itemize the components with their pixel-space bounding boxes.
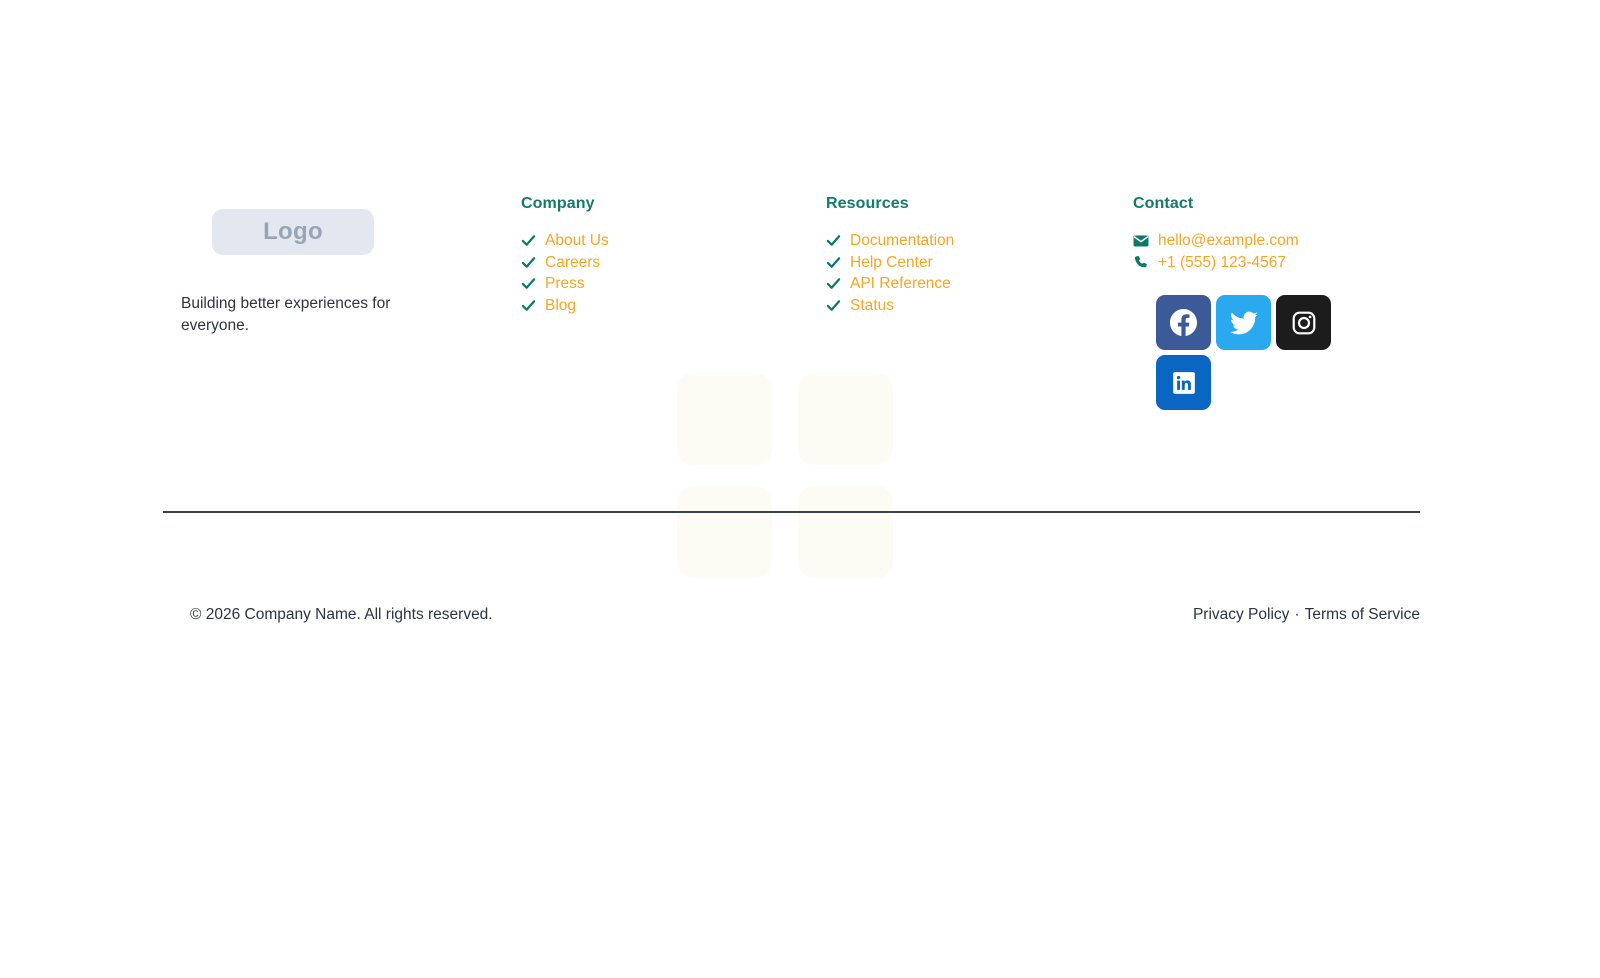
logo-text: Logo xyxy=(263,218,323,246)
contact-phone-label: +1 (555) 123-4567 xyxy=(1158,252,1286,274)
list-item[interactable]: Careers xyxy=(521,252,826,274)
footer-columns: Logo Building better experiences for eve… xyxy=(163,195,1420,410)
link-label: Press xyxy=(545,273,585,295)
brand-tagline: Building better experiences for everyone… xyxy=(181,293,391,337)
check-icon xyxy=(826,233,841,248)
link-label: Careers xyxy=(545,252,600,274)
footer-column-company: Company About Us Careers xyxy=(521,195,826,316)
check-icon xyxy=(826,298,841,313)
footer-divider xyxy=(163,511,1420,513)
social-link-instagram[interactable] xyxy=(1276,295,1331,350)
social-link-linkedin[interactable] xyxy=(1156,355,1211,410)
terms-of-service-link[interactable]: Terms of Service xyxy=(1305,606,1420,624)
contact-email-row[interactable]: hello@example.com xyxy=(1133,230,1420,252)
list-item[interactable]: Press xyxy=(521,273,826,295)
social-links xyxy=(1156,295,1331,410)
legal-links: Privacy Policy · Terms of Service xyxy=(1193,606,1420,624)
check-icon xyxy=(826,276,841,291)
footer-brand-column: Logo Building better experiences for eve… xyxy=(163,195,521,337)
company-link-list: About Us Careers Press xyxy=(521,230,826,316)
check-icon xyxy=(521,276,536,291)
list-item[interactable]: Documentation xyxy=(826,230,1133,252)
phone-icon xyxy=(1133,255,1149,270)
check-icon xyxy=(826,255,841,270)
social-link-facebook[interactable] xyxy=(1156,295,1211,350)
link-label: About Us xyxy=(545,230,609,252)
footer-bottom-bar: © 2026 Company Name. All rights reserved… xyxy=(163,606,1420,624)
footer-column-contact: Contact hello@example.com +1 (555) 123-4… xyxy=(1133,195,1420,410)
link-label: Status xyxy=(850,295,894,317)
list-item[interactable]: About Us xyxy=(521,230,826,252)
logo-placeholder[interactable]: Logo xyxy=(212,209,374,255)
link-label: API Reference xyxy=(850,273,951,295)
link-label: Help Center xyxy=(850,252,933,274)
contact-email-label: hello@example.com xyxy=(1158,230,1299,252)
list-item[interactable]: Status xyxy=(826,295,1133,317)
instagram-icon xyxy=(1291,310,1317,336)
column-heading-company: Company xyxy=(521,195,826,213)
check-icon xyxy=(521,255,536,270)
list-item[interactable]: API Reference xyxy=(826,273,1133,295)
resources-link-list: Documentation Help Center API Reference xyxy=(826,230,1133,316)
list-item[interactable]: Blog xyxy=(521,295,826,317)
legal-separator: · xyxy=(1294,606,1299,624)
column-heading-contact: Contact xyxy=(1133,195,1420,213)
privacy-policy-link[interactable]: Privacy Policy xyxy=(1193,606,1289,624)
check-icon xyxy=(521,298,536,313)
linkedin-icon xyxy=(1171,370,1197,396)
decorative-tile xyxy=(677,486,772,578)
link-label: Documentation xyxy=(850,230,954,252)
decorative-tile xyxy=(798,486,893,578)
envelope-icon xyxy=(1133,233,1149,248)
copyright-text: © 2026 Company Name. All rights reserved… xyxy=(190,606,493,624)
check-icon xyxy=(521,233,536,248)
contact-phone-row[interactable]: +1 (555) 123-4567 xyxy=(1133,252,1420,274)
link-label: Blog xyxy=(545,295,576,317)
list-item[interactable]: Help Center xyxy=(826,252,1133,274)
twitter-icon xyxy=(1230,309,1258,337)
site-footer: Logo Building better experiences for eve… xyxy=(0,0,1600,978)
social-link-twitter[interactable] xyxy=(1216,295,1271,350)
facebook-icon xyxy=(1170,309,1197,336)
footer-column-resources: Resources Documentation Help Center xyxy=(826,195,1133,316)
column-heading-resources: Resources xyxy=(826,195,1133,213)
